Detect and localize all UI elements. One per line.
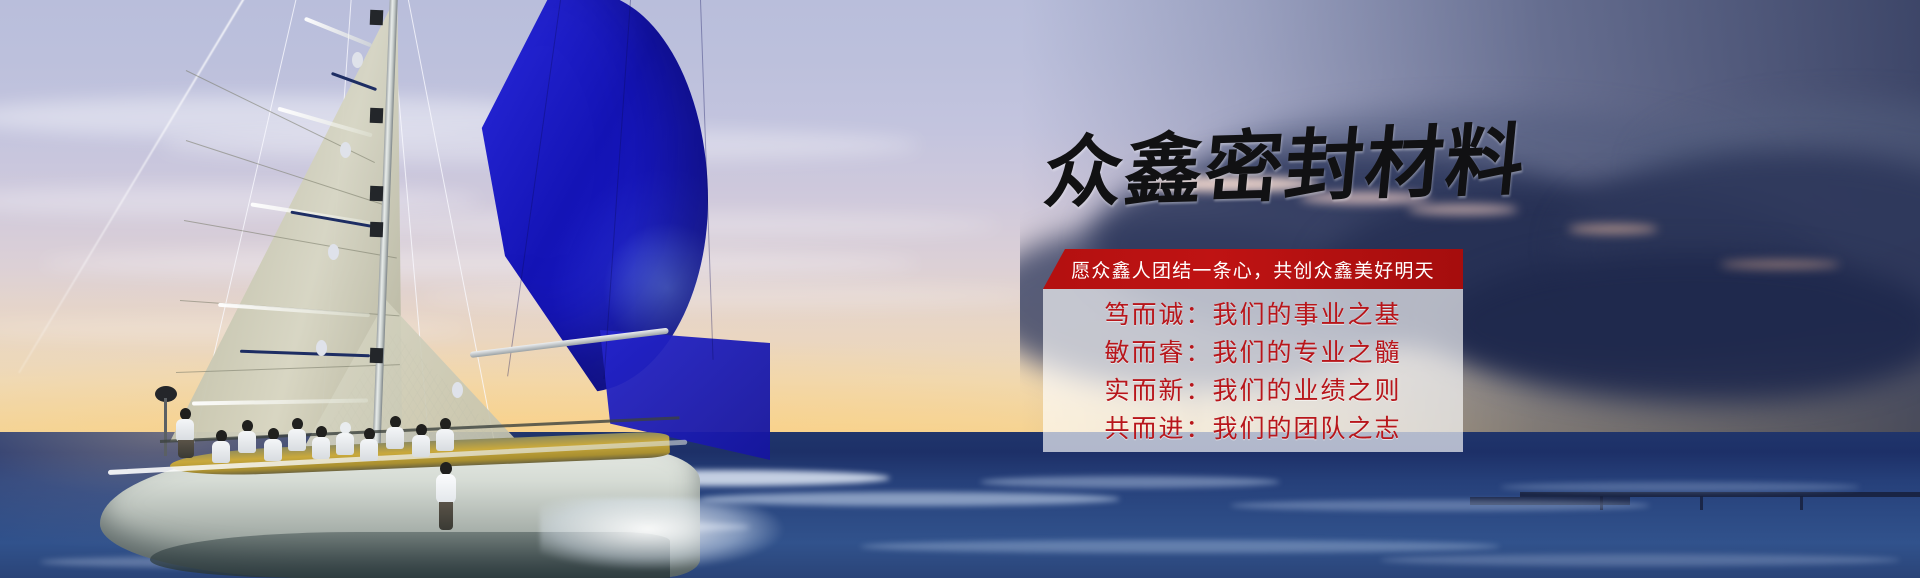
sea-foam [1230,500,1650,511]
sea-foam [1500,482,1860,492]
ribbon-text: 愿众鑫人团结一条心，共创众鑫美好明天 [1071,256,1435,283]
sail-grommet [316,340,327,356]
slogan-line-1: 笃而诚：我们的事业之基 [1104,297,1401,333]
antenna-pole [164,398,167,456]
slogan-line-2: 敏而睿：我们的专业之髓 [1104,335,1401,371]
cloud-highlight [1720,260,1840,269]
mast-fitting [370,186,384,201]
bow-wave [540,498,840,576]
sea-foam [980,476,1280,488]
sail-batten [304,17,372,48]
slogan-line-3: 实而新：我们的业绩之则 [1104,373,1401,409]
mast-fitting [370,10,384,25]
cloud-highlight [1568,224,1658,234]
mast-fitting [370,108,384,123]
mast-fitting [370,222,384,237]
sail-grommet [328,244,339,260]
slogan-ribbon: 愿众鑫人团结一条心，共创众鑫美好明天 [1043,249,1463,289]
sail-grommet [452,382,463,398]
hero-banner: 众鑫密封材料 愿众鑫人团结一条心，共创众鑫美好明天 笃而诚：我们的事业之基 敏而… [0,0,1920,578]
sail-grommet [340,142,351,158]
mast-fitting [370,348,384,363]
pier-pylon [1800,496,1803,510]
pier-pylon [1700,496,1703,510]
company-name-headline: 众鑫密封材料 [1040,114,1500,223]
sailboat [0,0,760,578]
slogan-line-4: 共而进：我们的团队之志 [1104,411,1401,447]
sea-foam [1380,554,1900,566]
sail-grommet [352,52,363,68]
slogan-panel: 笃而诚：我们的事业之基 敏而睿：我们的专业之髓 实而新：我们的业绩之则 共而进：… [1043,289,1463,452]
sea-foam [860,540,1500,553]
